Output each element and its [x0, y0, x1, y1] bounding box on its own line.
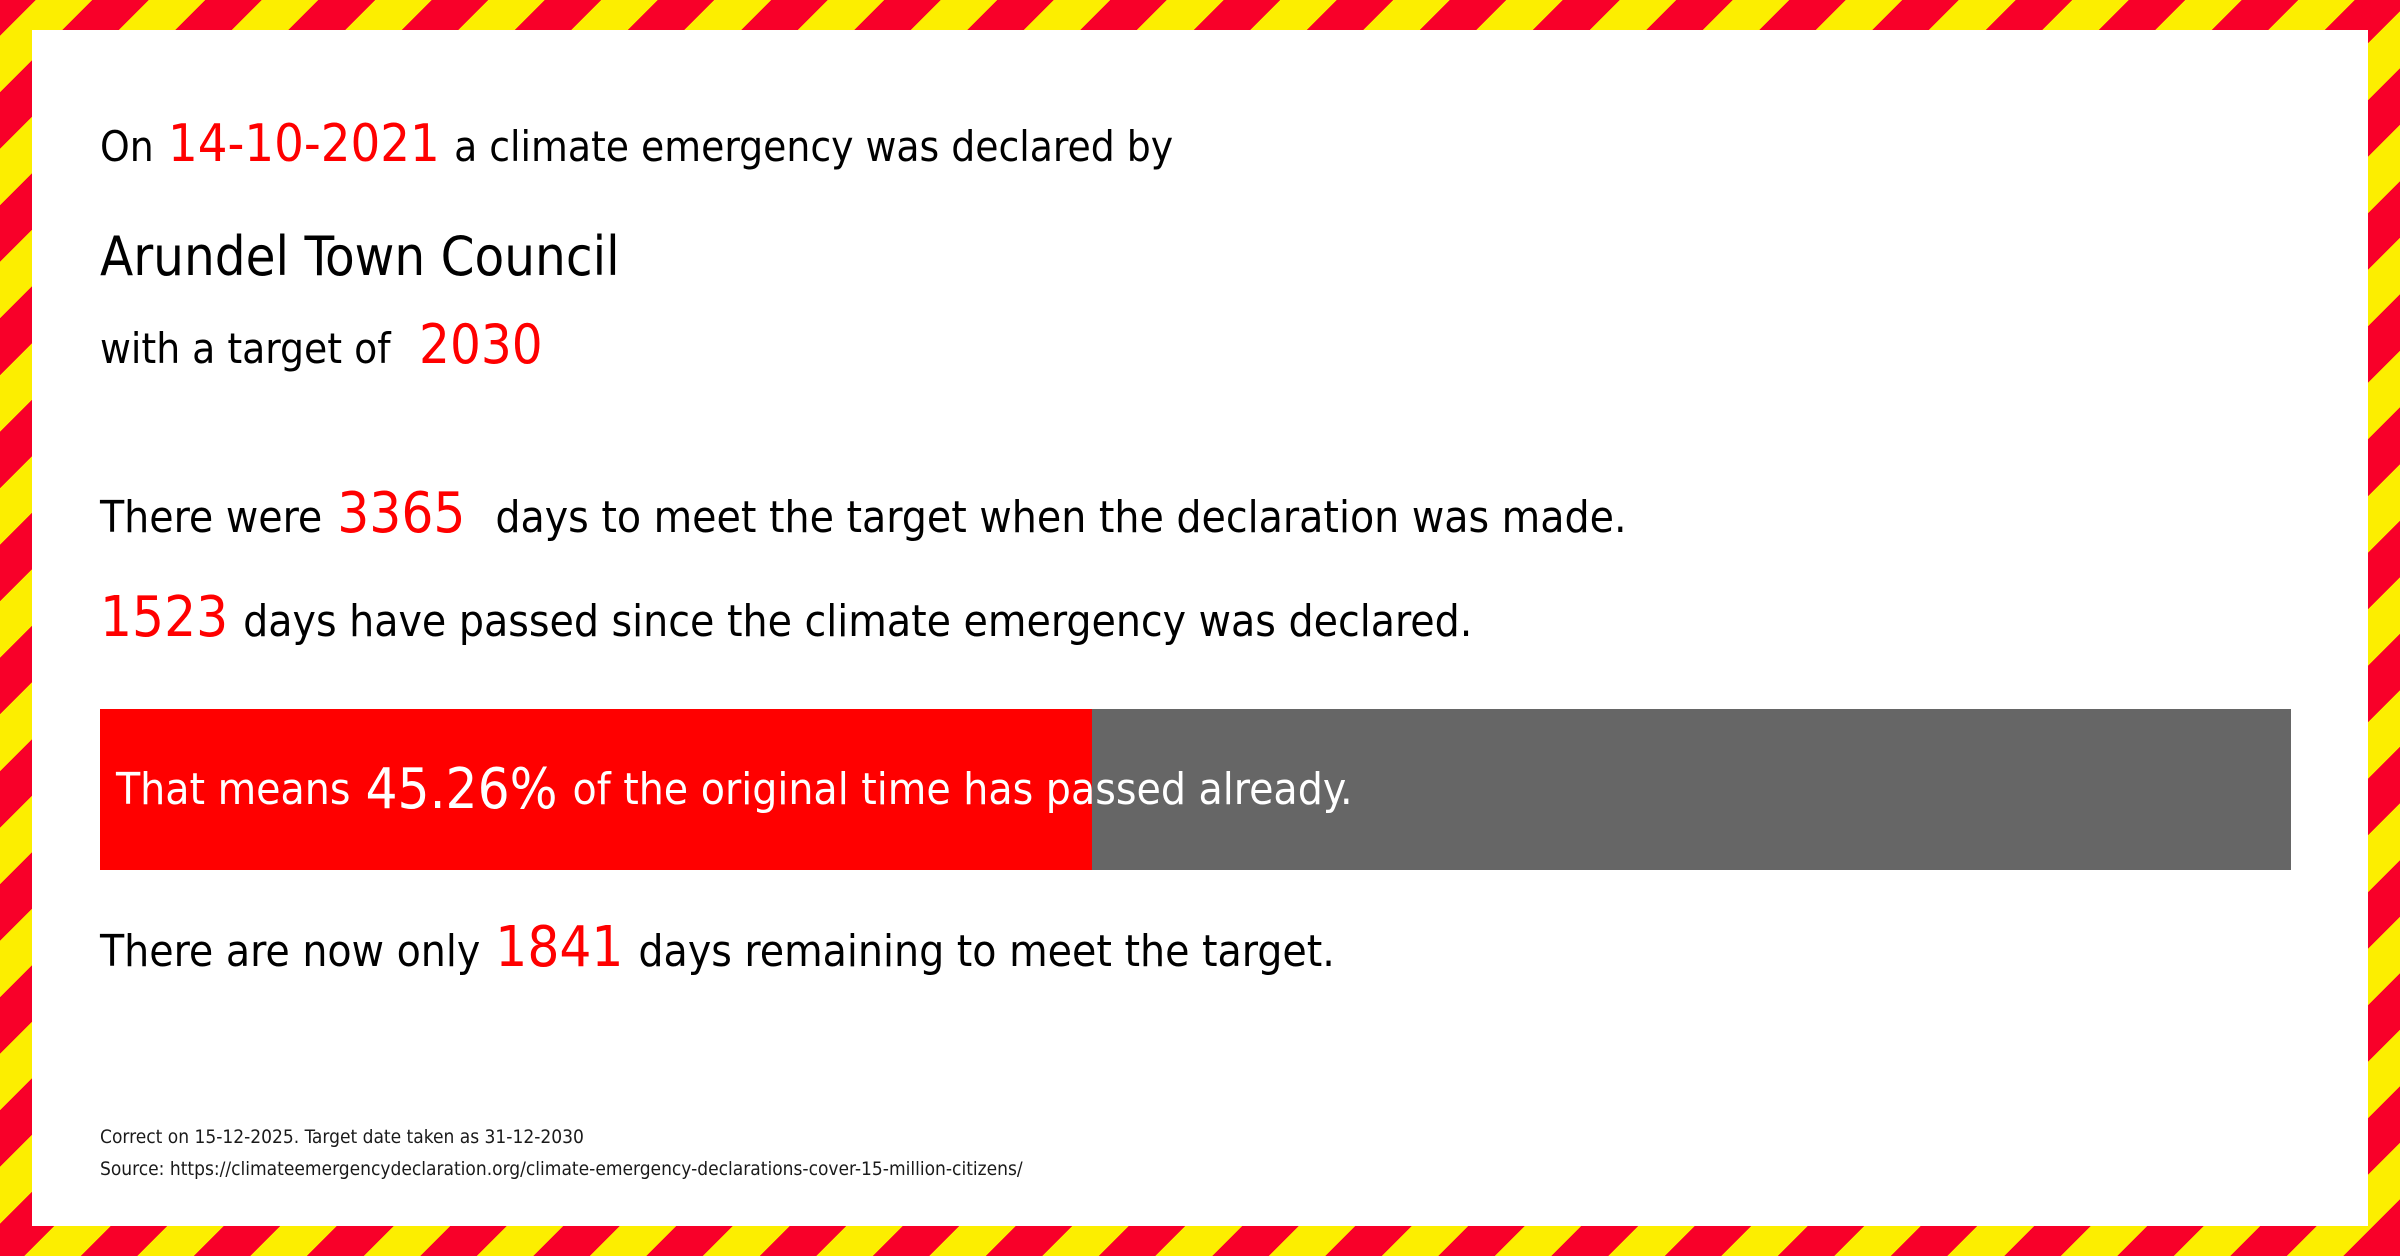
progress-bar-label: That means45.26%of the original time has…: [116, 709, 1353, 870]
days-remaining-line: There are now only1841days remaining to …: [100, 920, 1335, 976]
target-prefix-label: with a target of: [100, 324, 391, 373]
days-remaining-value: 1841: [495, 915, 623, 980]
progress-label-prefix: That means: [116, 768, 351, 812]
footnote-source: Source: https://climateemergencydeclarat…: [100, 1160, 1023, 1179]
progress-percent-value: 45.26%: [365, 762, 557, 818]
declaration-date-value: 14-10-2021: [168, 114, 440, 174]
declared-on-prefix: On: [100, 122, 154, 171]
days-at-declaration-value: 3365: [337, 481, 465, 546]
days-passed-line: 1523days have passed since the climate e…: [100, 590, 1472, 646]
time-elapsed-progress-bar: That means45.26%of the original time has…: [100, 709, 2291, 870]
days-passed-value: 1523: [100, 585, 228, 650]
days-passed-suffix: days have passed since the climate emerg…: [243, 596, 1472, 647]
footnote-correct-on: Correct on 15-12-2025. Target date taken…: [100, 1128, 584, 1147]
days-remaining-suffix: days remaining to meet the target.: [638, 926, 1334, 977]
declared-on-suffix: a climate emergency was declared by: [454, 122, 1173, 171]
declaration-date-line: On14-10-2021a climate emergency was decl…: [100, 118, 1173, 170]
days-at-declaration-line: There were3365days to meet the target wh…: [100, 486, 1627, 542]
target-year-value: 2030: [419, 313, 543, 376]
hazard-striped-border: On14-10-2021a climate emergency was decl…: [0, 0, 2400, 1256]
target-year-line: with a target of2030: [100, 318, 543, 372]
progress-label-suffix: of the original time has passed already.: [572, 768, 1352, 812]
council-name-line: Arundel Town Council: [100, 230, 620, 284]
days-at-declaration-prefix: There were: [100, 492, 322, 543]
info-card: On14-10-2021a climate emergency was decl…: [32, 30, 2368, 1226]
council-name-value: Arundel Town Council: [100, 225, 620, 288]
days-at-declaration-suffix: days to meet the target when the declara…: [495, 492, 1626, 543]
days-remaining-prefix: There are now only: [100, 926, 480, 977]
